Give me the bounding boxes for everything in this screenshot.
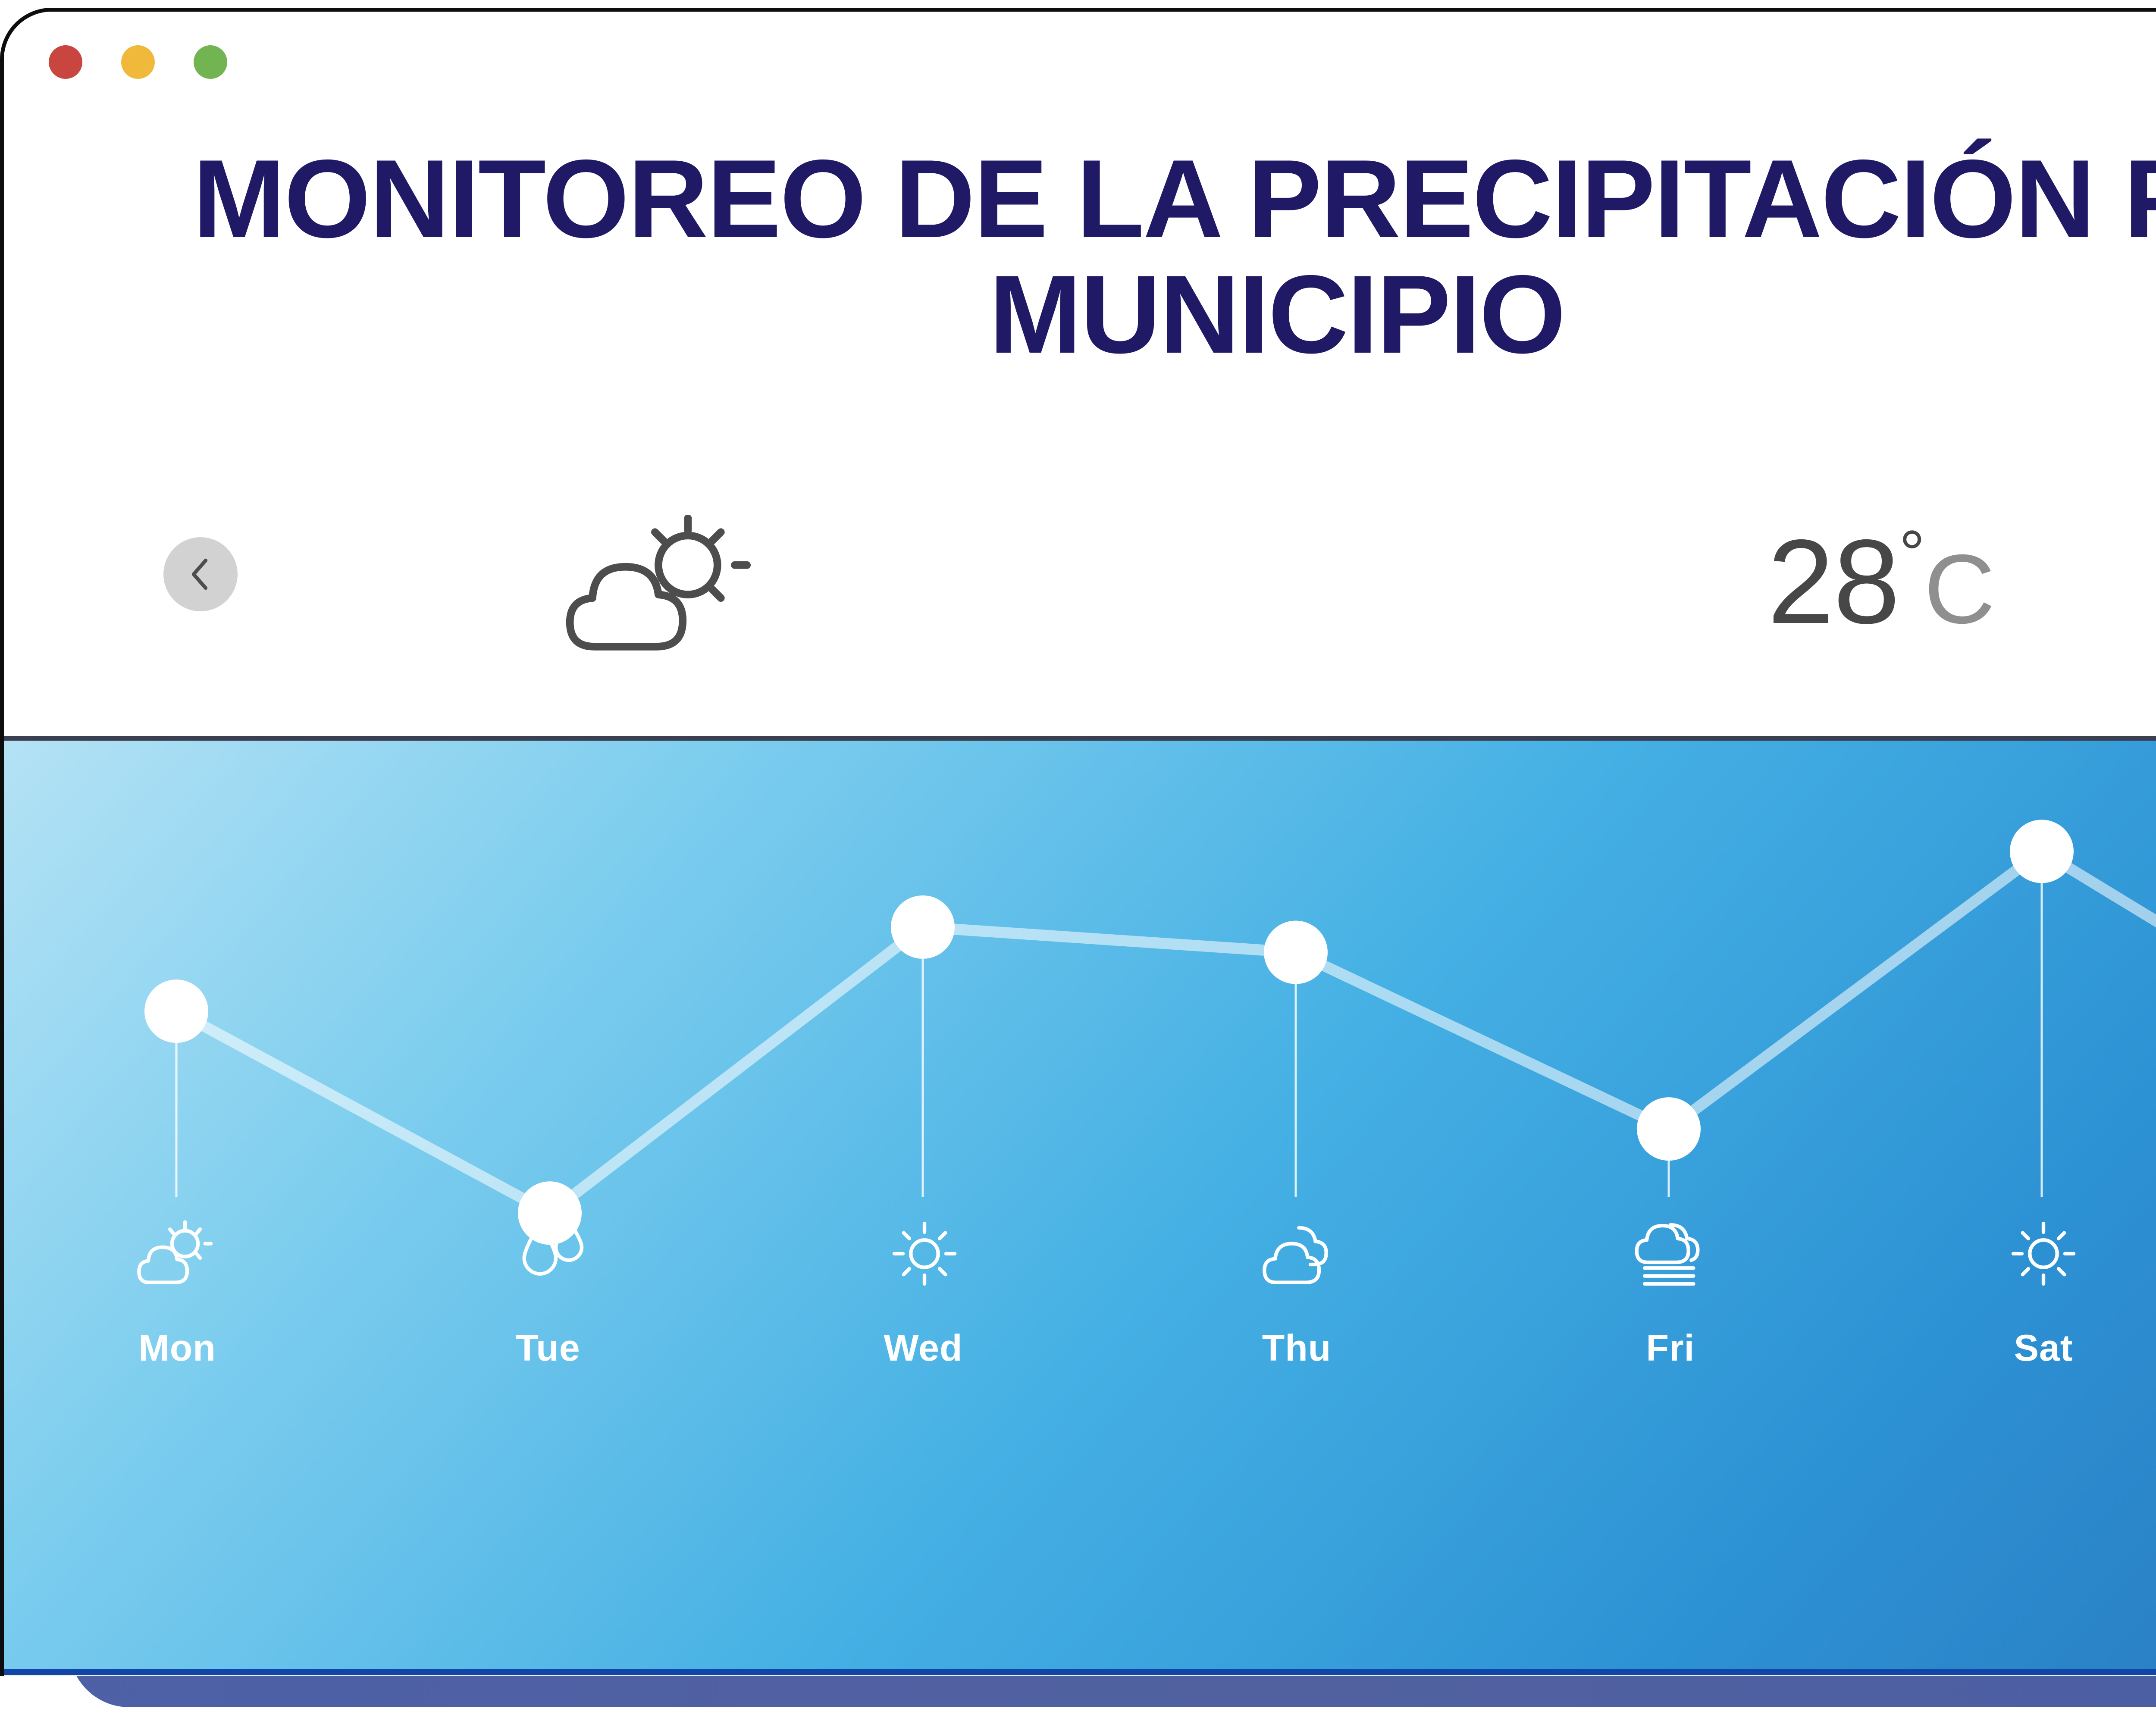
precipitation-chart: Mon Tue: [4, 741, 2156, 1675]
day-icon-tue: [508, 1217, 595, 1290]
day-label-sat: Sat: [1957, 1327, 2130, 1370]
temperature-value: 28: [1767, 514, 1899, 648]
day-icon-thu: [1254, 1217, 1341, 1290]
chart-point-fri[interactable]: [1637, 1097, 1701, 1161]
page-title: MONITOREO DE LA PRECIPITACIÓN POR MUNICI…: [4, 141, 2156, 372]
day-label-mon: Mon: [91, 1327, 263, 1370]
current-weather-icon: [552, 515, 776, 657]
window-controls: [49, 45, 227, 79]
day-label-tue: Tue: [462, 1327, 634, 1370]
day-icon-sat: [2000, 1217, 2087, 1290]
maximize-button[interactable]: [194, 45, 227, 79]
browser-window: MONITOREO DE LA PRECIPITACIÓN POR MUNICI…: [0, 8, 2156, 1676]
chart-data-points: [144, 820, 2156, 1245]
sun-behind-cloud-icon: [133, 1217, 219, 1290]
day-label-thu: Thu: [1210, 1327, 1383, 1370]
chart-stem-lines: [176, 851, 2156, 1213]
chart-plot-area: [4, 741, 2156, 1669]
degree-symbol: °: [1899, 517, 1924, 589]
day-icon-fri: [1627, 1217, 1714, 1290]
sun-icon: [881, 1217, 968, 1290]
screenshot-stage: MONITOREO DE LA PRECIPITACIÓN POR MUNICI…: [0, 0, 2156, 1718]
previous-municipality-button[interactable]: [163, 537, 238, 611]
chart-point-sat[interactable]: [2010, 820, 2074, 883]
close-button[interactable]: [49, 45, 82, 79]
sun-behind-cloud-icon: [552, 515, 776, 657]
day-icon-wed: [881, 1217, 968, 1290]
minimize-button[interactable]: [121, 45, 155, 79]
cloud-fog-icon: [1627, 1217, 1714, 1290]
cloud-icon: [1254, 1217, 1341, 1290]
chevron-left-icon: [180, 554, 221, 595]
chart-point-thu[interactable]: [1264, 920, 1328, 984]
chart-line-series: [176, 851, 2156, 1213]
raindrops-icon: [508, 1217, 595, 1290]
temperature-unit: C: [1924, 535, 1994, 644]
sun-icon: [2000, 1217, 2087, 1290]
current-conditions-row: 28°C: [4, 488, 2156, 660]
chart-trend-line: [176, 851, 2156, 1213]
chart-point-wed[interactable]: [891, 895, 955, 959]
window-header: MONITOREO DE LA PRECIPITACIÓN POR MUNICI…: [4, 12, 2156, 741]
day-icon-mon: [133, 1217, 219, 1290]
day-label-fri: Fri: [1584, 1327, 1757, 1370]
day-label-wed: Wed: [837, 1327, 1009, 1370]
current-temperature: 28°C: [1767, 522, 1994, 642]
chart-point-mon[interactable]: [144, 979, 208, 1043]
